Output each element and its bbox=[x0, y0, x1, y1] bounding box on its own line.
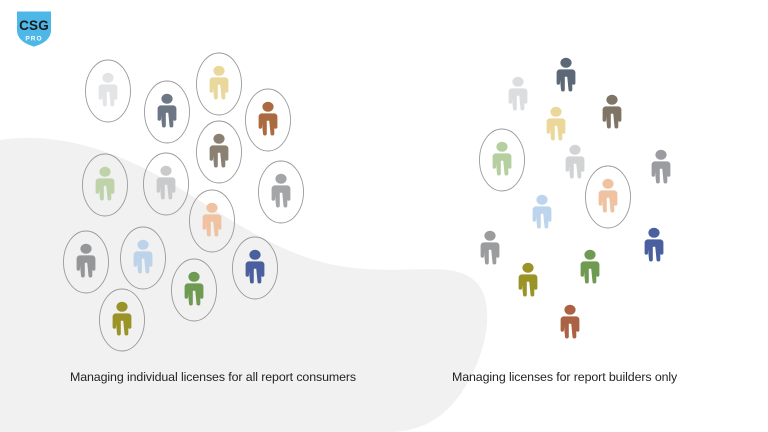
person-icon bbox=[203, 203, 222, 237]
person-icon bbox=[566, 145, 585, 179]
person-icon bbox=[259, 102, 278, 136]
person-icon bbox=[547, 107, 566, 141]
caption-right-cluster: Managing licenses for report builders on… bbox=[452, 371, 677, 383]
person-icon bbox=[134, 240, 153, 274]
person-icon bbox=[210, 66, 229, 100]
slide-canvas: CSG PRO Managing individual licenses for… bbox=[0, 0, 768, 432]
people-cluster bbox=[480, 58, 671, 339]
person-icon bbox=[99, 73, 118, 107]
person-icon bbox=[210, 134, 229, 168]
person-icon bbox=[603, 95, 622, 129]
person-icon bbox=[113, 302, 132, 336]
person-icon bbox=[96, 167, 115, 201]
person-icon bbox=[519, 263, 538, 297]
person-icon bbox=[599, 179, 618, 213]
caption-left-cluster: Managing individual licenses for all rep… bbox=[70, 371, 356, 383]
people-clusters-layer bbox=[0, 0, 768, 432]
person-icon bbox=[509, 77, 528, 111]
person-icon bbox=[481, 231, 500, 265]
person-icon bbox=[157, 166, 176, 200]
person-icon bbox=[77, 244, 96, 278]
person-icon bbox=[652, 150, 671, 184]
person-icon bbox=[272, 174, 291, 208]
person-icon bbox=[533, 195, 552, 229]
person-icon bbox=[246, 250, 265, 284]
person-icon bbox=[158, 94, 177, 128]
people-cluster bbox=[64, 53, 304, 351]
person-icon bbox=[645, 228, 664, 262]
person-icon bbox=[493, 142, 512, 176]
person-icon bbox=[581, 250, 600, 284]
person-icon bbox=[185, 272, 204, 306]
person-icon bbox=[561, 305, 580, 339]
person-icon bbox=[557, 58, 576, 92]
